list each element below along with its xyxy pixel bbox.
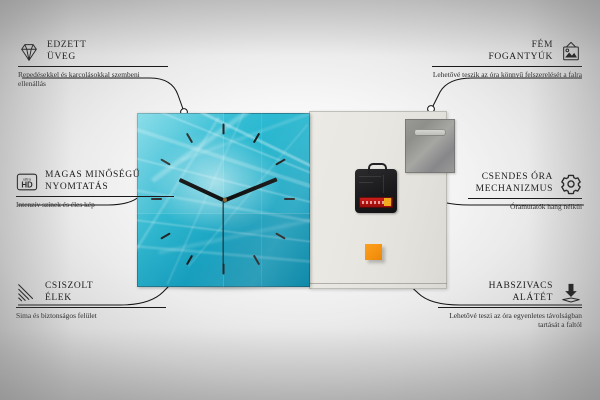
battery-plus-terminal (384, 198, 391, 206)
polished-edge-icon (16, 282, 38, 304)
diamond-icon (18, 41, 40, 63)
callout-title-line1: FÉM (488, 40, 553, 52)
metal-hanger-plate (405, 119, 455, 173)
clock-mechanism (355, 169, 397, 213)
callout-title-line1: EDZETT (47, 40, 86, 52)
mechanism-hanging-loop (368, 163, 387, 174)
callout-title-line2: ÉLEK (45, 293, 93, 305)
callout-title-line2: MECHANIZMUS (476, 184, 553, 196)
callout-title-line1: CSISZOLT (45, 281, 93, 293)
mechanism-detail (359, 176, 381, 177)
callout-title-line2: ÜVEG (47, 52, 86, 64)
divider (18, 66, 168, 67)
infographic-canvas: EDZETT ÜVEG Repedésekkel és karcolásokka… (0, 0, 600, 400)
callout-foam-pad: HABSZIVACS ALÁTÉT Lehetővé teszi az óra … (438, 281, 582, 329)
callout-tempered-glass: EDZETT ÜVEG Repedésekkel és karcolásokka… (18, 40, 168, 88)
divider (468, 198, 582, 199)
svg-text:HD: HD (21, 180, 33, 189)
foam-pad (365, 244, 382, 260)
mechanism-detail (383, 175, 384, 193)
callout-description: Lehetővé teszik az óra könnyű felszerelé… (432, 70, 582, 79)
divider (16, 307, 166, 308)
product-image (137, 113, 447, 288)
mechanism-detail (359, 182, 373, 183)
callout-description: Repedésekkel és karcolásokkal szembeni e… (18, 70, 168, 88)
callout-title-line2: FOGANTYÚK (488, 52, 553, 64)
battery-label (362, 201, 386, 204)
callout-description: Intenzív színek és éles kép (16, 200, 174, 209)
down-arrow-pad-icon (560, 282, 582, 304)
callout-title-line1: HABSZIVACS (489, 281, 553, 293)
callout-polished-edges: CSISZOLT ÉLEK Sima és biztonságos felüle… (16, 281, 166, 320)
callout-description: Sima és biztonságos felület (16, 311, 166, 320)
callout-high-quality-print: ultra HD MAGAS MINŐSÉGŰ NYOMTATÁS Intenz… (16, 170, 174, 209)
gear-icon (560, 173, 582, 195)
callout-description: Óramutatók hang nélkül (468, 202, 582, 211)
callout-metal-handles: FÉM FOGANTYÚK Lehetővé teszik az óra kön… (432, 40, 582, 79)
hanger-slot (414, 129, 446, 136)
callout-title-line2: NYOMTATÁS (45, 182, 140, 194)
callout-title-line1: CSENDES ÓRA (476, 172, 553, 184)
callout-description: Lehetővé teszi az óra egyenletes távolsá… (438, 311, 582, 329)
divider (432, 66, 582, 67)
clock-back-panel (309, 111, 447, 289)
divider (438, 307, 582, 308)
picture-hanger-icon (560, 41, 582, 63)
battery (359, 197, 393, 208)
ultra-hd-icon: ultra HD (16, 171, 38, 193)
divider (16, 196, 174, 197)
callout-title-line1: MAGAS MINŐSÉGŰ (45, 170, 140, 182)
back-panel-bottom-edge (309, 283, 447, 284)
callout-silent-mechanism: CSENDES ÓRA MECHANIZMUS Óramutatók hang … (468, 172, 582, 211)
callout-title-line2: ALÁTÉT (489, 293, 553, 305)
